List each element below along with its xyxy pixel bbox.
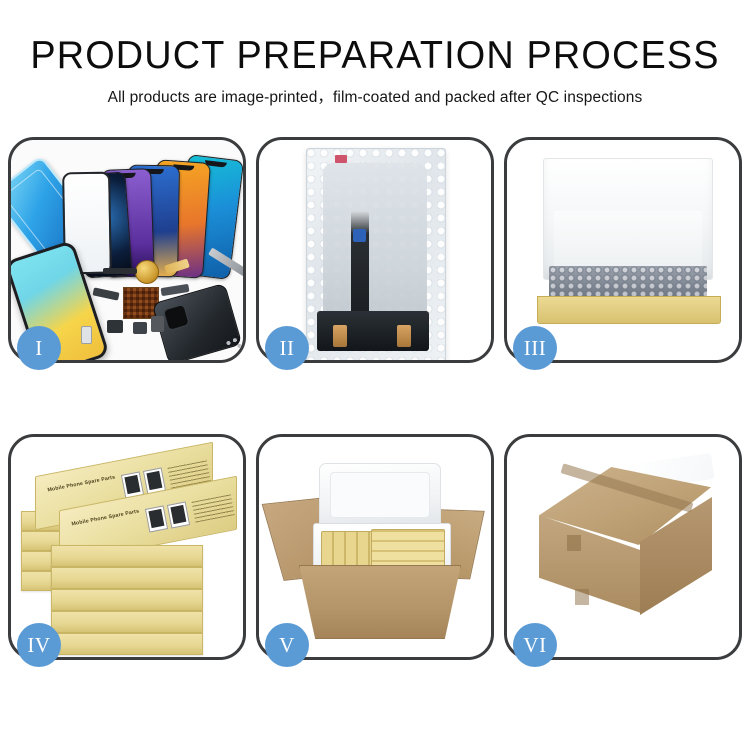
speaker-component bbox=[135, 260, 159, 284]
process-step-panel-4[interactable]: Mobile Phone Spare Parts Mobile Phone Sp… bbox=[8, 434, 246, 660]
foam-lid-open bbox=[319, 463, 441, 531]
flex-cable-part bbox=[103, 268, 137, 274]
step-badge-2: II bbox=[265, 326, 309, 370]
red-marker-tab bbox=[335, 155, 347, 163]
screws-group bbox=[225, 336, 243, 350]
step-badge-3: III bbox=[513, 326, 557, 370]
small-module-part bbox=[133, 322, 147, 334]
process-step-panel-6[interactable]: VI bbox=[504, 434, 742, 660]
small-module-part bbox=[107, 320, 123, 333]
bubble-wrap-bag bbox=[306, 148, 446, 360]
small-module-part bbox=[151, 316, 164, 332]
carton-tab bbox=[567, 535, 581, 551]
step-badge-1: I bbox=[17, 326, 61, 370]
lcd-bottom-assembly bbox=[317, 311, 429, 351]
page-subtitle: All products are image-printed，film-coat… bbox=[0, 85, 750, 107]
connector-left bbox=[333, 325, 347, 347]
connector-right bbox=[397, 325, 411, 347]
process-step-panel-2[interactable]: II bbox=[256, 137, 494, 363]
foam-lid bbox=[543, 158, 713, 280]
process-step-panel-3[interactable]: III bbox=[504, 137, 742, 363]
small-module-part bbox=[81, 326, 92, 344]
process-step-grid: I II bbox=[8, 137, 742, 660]
packed-retail-boxes bbox=[371, 529, 445, 571]
lcd-flex-cable bbox=[351, 211, 369, 315]
inner-box-front bbox=[537, 296, 721, 324]
chip-array-component bbox=[123, 287, 159, 319]
carton-body bbox=[299, 565, 461, 639]
step-badge-5: V bbox=[265, 623, 309, 667]
process-step-panel-1[interactable]: I bbox=[8, 137, 246, 363]
step-badge-6: VI bbox=[513, 623, 557, 667]
process-step-panel-5[interactable]: V bbox=[256, 434, 494, 660]
step-badge-4: IV bbox=[17, 623, 61, 667]
carton-tab bbox=[575, 589, 589, 605]
bubble-padding bbox=[549, 266, 707, 298]
flex-cable-part bbox=[92, 287, 119, 300]
page-title: PRODUCT PREPARATION PROCESS bbox=[11, 34, 739, 78]
